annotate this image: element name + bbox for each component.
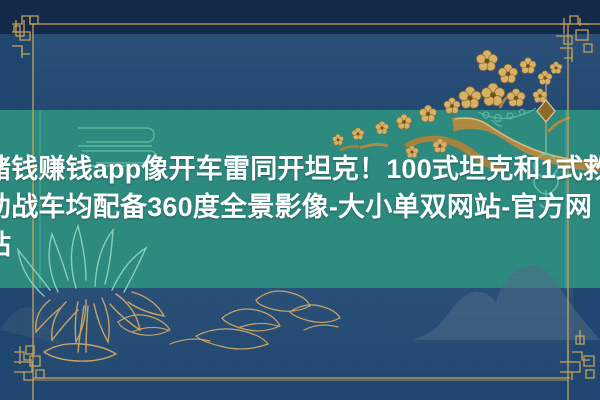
band-blue-mid (0, 34, 600, 110)
page-title: 赌钱赚钱app像开车雷同开坦克！100式坦克和1式救助战车均配备360度全景影像… (0, 150, 600, 264)
band-blue-bottom (0, 288, 600, 400)
banner-canvas: 赌钱赚钱app像开车雷同开坦克！100式坦克和1式救助战车均配备360度全景影像… (0, 0, 600, 400)
band-navy-top (0, 0, 600, 34)
